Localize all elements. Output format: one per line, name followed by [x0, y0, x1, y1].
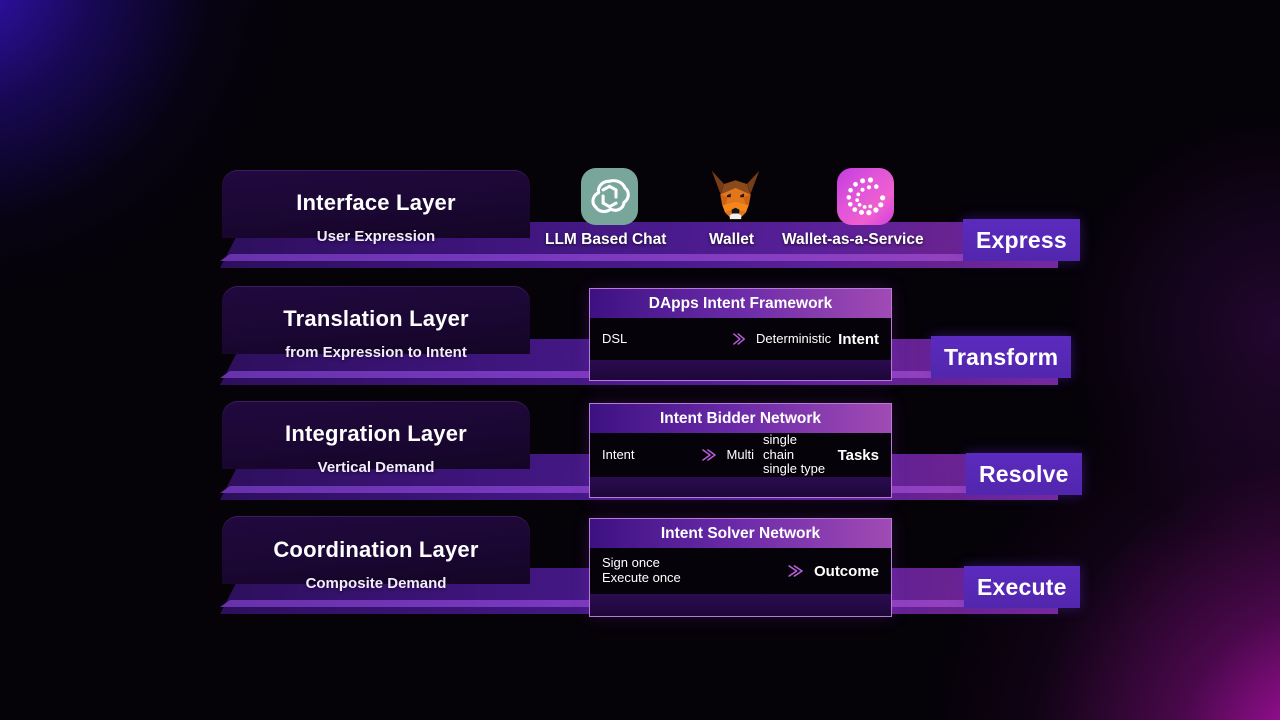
stage-badge-resolve[interactable]: Resolve: [966, 453, 1082, 495]
icon-caption-llm-chat: LLM Based Chat: [545, 231, 666, 249]
layer-subtitle-integration: Vertical Demand: [222, 459, 530, 476]
layer-subtitle-coordination: Composite Demand: [222, 575, 530, 592]
card-from-label-sign-execute: Sign once Execute once: [602, 556, 681, 586]
netcard-intent-bidder-network[interactable]: Intent Bidder Network Intent: [589, 403, 892, 498]
netcard-body-dapps: DSL De: [590, 318, 891, 360]
stage-badge-express[interactable]: Express: [963, 219, 1080, 261]
card-to-label-tasks: Tasks: [838, 447, 879, 464]
netcard-header-solver: Intent Solver Network: [590, 519, 891, 548]
netcard-header-bidder: Intent Bidder Network: [590, 404, 891, 433]
flow-arrow-icon: [689, 564, 806, 578]
flow-arrow-icon: [643, 448, 719, 462]
netcard-intent-solver-network[interactable]: Intent Solver Network Sign once Execute …: [589, 518, 892, 617]
icon-caption-wallet: Wallet: [709, 231, 754, 249]
netcard-body-bidder: Intent: [590, 433, 891, 477]
shelf-lip-1: [220, 254, 1058, 261]
layer-subtitle-translation: from Expression to Intent: [222, 344, 530, 361]
card-to-label-outcome: Outcome: [814, 563, 879, 580]
icon-caption-waas: Wallet-as-a-Service: [782, 231, 924, 249]
card-mid-label-multi: Multi: [727, 448, 754, 463]
netcard-footer-dapps: [590, 360, 891, 380]
card-detail-label-deterministic: Deterministic: [756, 332, 831, 347]
netcard-footer-bidder: [590, 477, 891, 497]
stage-badge-execute[interactable]: Execute: [964, 566, 1080, 608]
layer-subtitle-interface: User Expression: [222, 228, 530, 245]
netcard-footer-solver: [590, 594, 891, 616]
layer-title-translation: Translation Layer: [222, 306, 530, 332]
netcard-body-solver: Sign once Execute once: [590, 548, 891, 594]
card-from-label-dsl: DSL: [602, 332, 627, 347]
diagram-canvas: Interface Layer User Expression: [0, 0, 1280, 720]
netcard-dapps-intent-framework[interactable]: DApps Intent Framework DSL: [589, 288, 892, 381]
layer-title-interface: Interface Layer: [222, 190, 530, 216]
layer-title-coordination: Coordination Layer: [222, 537, 530, 563]
flow-arrow-icon: [635, 332, 748, 346]
card-detail-label-chain-type: single chain single type: [763, 433, 829, 477]
card-from-label-intent: Intent: [602, 448, 635, 463]
layer-title-integration: Integration Layer: [222, 421, 530, 447]
netcard-header-dapps: DApps Intent Framework: [590, 289, 891, 318]
card-to-label-intent: Intent: [838, 331, 879, 348]
stage-badge-transform[interactable]: Transform: [931, 336, 1071, 378]
particle-spiral-icon[interactable]: [837, 168, 894, 225]
openai-logo-icon[interactable]: [581, 168, 638, 225]
metamask-fox-icon[interactable]: [707, 165, 764, 222]
